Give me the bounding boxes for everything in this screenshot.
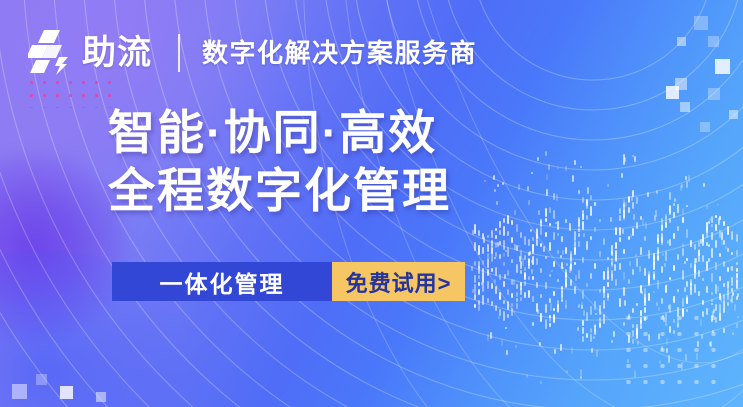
waveform-bar	[529, 251, 531, 254]
waveform-bar	[632, 155, 634, 157]
waveform-bar	[603, 286, 605, 293]
waveform-bar	[690, 263, 692, 269]
waveform-bar	[491, 240, 493, 247]
waveform-bar	[611, 274, 613, 281]
waveform-bar	[727, 289, 729, 295]
waveform-bar	[635, 254, 637, 258]
free-trial-button-label: 免费试用>	[346, 266, 452, 298]
waveform-bar	[723, 294, 725, 299]
waveform-bar	[532, 276, 534, 280]
waveform-bar	[582, 210, 584, 215]
waveform-bar	[723, 283, 725, 287]
waveform-bar	[599, 323, 601, 328]
waveform-bar	[615, 254, 617, 261]
waveform-bar	[580, 166, 582, 168]
waveform-bar	[487, 298, 489, 303]
waveform-bar	[666, 338, 668, 345]
waveform-bar	[736, 277, 738, 282]
waveform-bar	[595, 313, 597, 316]
waveform-bar	[653, 274, 655, 278]
waveform-bar	[736, 323, 738, 328]
waveform-bar	[669, 277, 671, 280]
waveform-bar	[698, 270, 700, 277]
waveform-bar	[545, 208, 547, 217]
waveform-bar	[590, 328, 592, 333]
brand-tagline: 数字化解决方案服务商	[202, 40, 477, 66]
waveform-bar	[711, 248, 713, 258]
waveform-bar	[677, 204, 679, 214]
waveform-bar	[603, 300, 605, 308]
waveform-bar	[619, 298, 621, 307]
waveform-bar	[506, 350, 508, 355]
waveform-bar	[570, 262, 572, 267]
waveform-bar	[478, 300, 480, 305]
waveform-bar	[658, 334, 660, 339]
waveform-bar	[623, 322, 625, 326]
waveform-bar	[507, 289, 509, 295]
waveform-bar	[622, 229, 624, 234]
waveform-bar	[478, 282, 480, 287]
waveform-bar	[531, 172, 533, 174]
waveform-bar	[657, 255, 659, 261]
waveform-bar	[655, 210, 657, 217]
waveform-bar	[599, 317, 601, 321]
waveform-bar	[546, 189, 548, 196]
waveform-bar	[611, 274, 613, 278]
waveform-bar	[619, 208, 621, 214]
waveform-bar	[680, 185, 682, 192]
waveform-bar	[487, 244, 489, 252]
waveform-bar	[666, 284, 668, 286]
waveform-bar	[582, 327, 584, 334]
waveform-bar	[630, 234, 632, 238]
waveform-bar	[511, 259, 513, 263]
waveform-bar	[532, 296, 534, 302]
waveform-bar	[686, 297, 688, 300]
waveform-bar	[632, 190, 634, 197]
waveform-bar	[686, 298, 688, 304]
waveform-bar	[619, 215, 621, 221]
waveform-bar	[653, 262, 655, 271]
waveform-bar	[491, 253, 493, 262]
waveform-bar	[503, 240, 505, 250]
waveform-bar	[665, 214, 667, 220]
waveform-bar	[607, 271, 609, 280]
decor-square	[715, 59, 730, 74]
waveform-bar	[645, 222, 647, 228]
waveform-bar	[528, 259, 530, 266]
waveform-bar	[503, 311, 505, 320]
waveform-bar	[690, 240, 692, 247]
waveform-bar	[540, 294, 542, 297]
waveform-bar	[653, 256, 655, 265]
waveform-bar	[734, 304, 736, 311]
waveform-bar	[720, 297, 722, 301]
waveform-bar	[665, 222, 667, 228]
waveform-bar	[654, 215, 656, 222]
free-trial-button[interactable]: 免费试用>	[332, 262, 465, 301]
waveform-bar	[732, 292, 734, 297]
waveform-bar	[495, 267, 497, 276]
waveform-bar	[596, 350, 598, 357]
waveform-bar	[565, 300, 567, 307]
waveform-bar	[694, 258, 696, 267]
waveform-bar	[532, 244, 534, 254]
waveform-bar	[536, 303, 538, 313]
waveform-bar	[702, 278, 704, 281]
waveform-bar	[487, 259, 489, 268]
waveform-bar	[633, 214, 635, 220]
waveform-bar	[482, 260, 484, 264]
waveform-bar	[677, 307, 679, 316]
waveform-bar	[723, 308, 725, 313]
waveform-bar	[565, 273, 567, 278]
waveform-bar	[669, 304, 671, 314]
waveform-bar	[582, 221, 584, 230]
waveform-bar	[669, 205, 671, 213]
waveform-bar	[516, 224, 518, 233]
waveform-bar	[474, 275, 476, 284]
waveform-bar	[574, 247, 576, 255]
waveform-bar	[491, 268, 493, 273]
waveform-bar	[644, 307, 646, 313]
waveform-bar	[690, 279, 692, 285]
waveform-bar	[536, 282, 538, 288]
waveform-bar	[511, 237, 513, 244]
waveform-bar	[586, 200, 588, 210]
waveform-bar	[478, 305, 480, 312]
waveform-bar	[536, 239, 538, 247]
waveform-bar	[565, 279, 567, 288]
waveform-bar	[495, 242, 497, 248]
waveform-bar	[495, 235, 497, 240]
waveform-bar	[636, 324, 638, 331]
headline-line-1: 智能·协同·高效	[108, 104, 451, 162]
waveform-bar	[482, 247, 484, 253]
waveform-bar	[632, 339, 634, 344]
waveform-bar	[487, 253, 489, 260]
waveform-bar	[603, 271, 605, 280]
waveform-bar	[587, 187, 589, 194]
waveform-bar	[727, 294, 729, 300]
waveform-bar	[577, 327, 579, 331]
waveform-bar	[494, 257, 496, 259]
waveform-bar	[507, 301, 509, 310]
waveform-bar	[557, 250, 559, 254]
waveform-bar	[623, 161, 625, 165]
waveform-bar	[706, 227, 708, 233]
waveform-bar	[706, 231, 708, 238]
waveform-bar	[528, 258, 530, 262]
waveform-bar	[581, 305, 583, 309]
waveform-bar	[557, 233, 559, 235]
waveform-bar	[621, 173, 623, 178]
light-dot-grid	[620, 310, 720, 395]
decor-square	[96, 392, 106, 402]
waveform-bar	[503, 226, 505, 235]
waveform-bar	[637, 341, 639, 345]
lightning-bolt-logo-icon	[28, 30, 72, 76]
waveform-bar	[499, 230, 501, 235]
waveform-bar	[524, 255, 526, 261]
waveform-bar	[718, 218, 720, 226]
waveform-bar	[719, 276, 721, 281]
waveform-bar	[653, 256, 655, 263]
waveform-bar	[474, 304, 476, 307]
waveform-bar	[694, 244, 696, 250]
waveform-bar	[545, 232, 547, 237]
waveform-bar	[623, 210, 625, 218]
waveform-bar	[682, 298, 684, 307]
waveform-bar	[715, 304, 717, 312]
waveform-bar	[503, 218, 505, 223]
waveform-bar	[669, 206, 671, 216]
waveform-bar	[491, 247, 493, 254]
waveform-bar	[530, 229, 532, 232]
waveform-bar	[499, 309, 501, 316]
waveform-bar	[640, 247, 642, 255]
waveform-bar	[528, 239, 530, 246]
waveform-bar	[715, 262, 717, 271]
waveform-bar	[513, 279, 515, 285]
waveform-bar	[546, 174, 548, 180]
waveform-bar	[574, 242, 576, 247]
waveform-bar	[551, 270, 553, 273]
waveform-bar	[580, 369, 582, 376]
waveform-bar	[569, 223, 571, 231]
waveform-bar	[566, 263, 568, 266]
waveform-bar	[581, 302, 583, 309]
waveform-bar	[586, 333, 588, 338]
decor-square	[700, 122, 710, 132]
waveform-bar	[499, 254, 501, 259]
waveform-bar	[702, 241, 704, 246]
waveform-bar	[615, 252, 617, 262]
waveform-bar	[640, 317, 642, 325]
waveform-bar	[487, 334, 489, 342]
waveform-bar	[499, 292, 501, 300]
waveform-bar	[474, 242, 476, 252]
headline-line-2: 全程数字化管理	[108, 162, 451, 220]
waveform-bar	[487, 235, 489, 238]
waveform-bar	[725, 246, 727, 249]
waveform-bar	[611, 340, 613, 344]
waveform-bar	[648, 274, 650, 283]
waveform-bar	[690, 286, 692, 291]
waveform-bar	[497, 242, 499, 247]
waveform-bar	[540, 221, 542, 227]
waveform-bar	[487, 281, 489, 290]
waveform-bar	[701, 334, 703, 339]
waveform-bar	[694, 267, 696, 273]
waveform-bar	[566, 370, 568, 373]
waveform-bar	[482, 295, 484, 305]
waveform-bar	[582, 320, 584, 326]
waveform-bar	[732, 332, 734, 335]
waveform-bar	[723, 221, 725, 226]
waveform-bar	[574, 231, 576, 240]
waveform-bar	[737, 316, 739, 318]
waveform-bar	[586, 312, 588, 321]
waveform-bar	[727, 248, 729, 252]
waveform-bar	[565, 247, 567, 255]
waveform-bar	[528, 259, 530, 265]
waveform-bar	[619, 263, 621, 270]
waveform-bar	[536, 234, 538, 240]
waveform-bar	[499, 296, 501, 299]
waveform-bar	[557, 279, 559, 282]
waveform-bar	[553, 210, 555, 219]
waveform-bar	[653, 271, 655, 280]
waveform-bar	[549, 207, 551, 213]
waveform-bar	[507, 314, 509, 318]
waveform-bar	[644, 268, 646, 275]
waveform-bar	[644, 294, 646, 303]
waveform-bar	[494, 279, 496, 283]
waveform-bar	[539, 342, 541, 346]
waveform-bar	[562, 250, 564, 256]
waveform-bar	[665, 220, 667, 225]
waveform-bar	[682, 248, 684, 256]
waveform-bar	[712, 330, 714, 333]
waveform-bar	[481, 282, 483, 284]
waveform-bar	[540, 243, 542, 247]
waveform-bar	[478, 245, 480, 255]
waveform-bar	[607, 267, 609, 273]
waveform-bar	[642, 219, 644, 227]
waveform-bar	[711, 216, 713, 223]
waveform-bar	[628, 236, 630, 240]
waveform-bar	[560, 344, 562, 351]
waveform-bar	[574, 239, 576, 247]
waveform-bar	[648, 277, 650, 285]
waveform-bar	[615, 227, 617, 231]
waveform-decoration	[470, 150, 743, 390]
waveform-bar	[610, 217, 612, 222]
waveform-bar	[682, 308, 684, 317]
waveform-bar	[553, 308, 555, 310]
waveform-bar	[647, 192, 649, 197]
waveform-bar	[565, 305, 567, 309]
waveform-bar	[611, 258, 613, 265]
waveform-bar	[471, 266, 473, 271]
waveform-bar	[511, 293, 513, 298]
waveform-bar	[499, 274, 501, 280]
waveform-bar	[711, 315, 713, 322]
waveform-bar	[549, 242, 551, 251]
waveform-bar	[507, 215, 509, 224]
waveform-bar	[599, 251, 601, 257]
waveform-bar	[727, 267, 729, 272]
waveform-bar	[673, 319, 675, 323]
waveform-bar	[496, 201, 498, 204]
waveform-bar	[516, 264, 518, 273]
waveform-bar	[706, 222, 708, 231]
waveform-bar	[528, 276, 530, 280]
waveform-bar	[528, 264, 530, 269]
waveform-bar	[681, 184, 683, 188]
waveform-bar	[570, 279, 572, 286]
waveform-bar	[717, 204, 719, 207]
waveform-bar	[590, 334, 592, 342]
decor-square	[729, 110, 738, 119]
waveform-bar	[594, 227, 596, 231]
waveform-bar	[648, 279, 650, 286]
waveform-bar	[495, 228, 497, 232]
waveform-bar	[543, 246, 545, 252]
waveform-bar	[731, 252, 733, 255]
waveform-bar	[516, 245, 518, 251]
waveform-bar	[661, 298, 663, 304]
waveform-bar	[484, 180, 486, 183]
waveform-bar	[507, 247, 509, 257]
waveform-bar	[570, 264, 572, 270]
waveform-bar	[665, 251, 667, 261]
waveform-bar	[553, 261, 555, 268]
waveform-bar	[686, 281, 688, 286]
waveform-bar	[514, 244, 516, 250]
waveform-bar	[594, 328, 596, 335]
waveform-bar	[507, 231, 509, 236]
waveform-bar	[623, 272, 625, 280]
waveform-bar	[603, 314, 605, 324]
waveform-bar	[504, 274, 506, 279]
waveform-bar	[553, 291, 555, 296]
waveform-bar	[538, 210, 540, 215]
waveform-bar	[669, 239, 671, 246]
waveform-bar	[582, 197, 584, 203]
waveform-bar	[727, 281, 729, 290]
waveform-bar	[586, 283, 588, 286]
waveform-bar	[586, 215, 588, 220]
waveform-bar	[640, 216, 642, 221]
waveform-bar	[706, 205, 708, 209]
waveform-bar	[665, 285, 667, 294]
waveform-bar	[561, 294, 563, 298]
waveform-bar	[586, 241, 588, 251]
waveform-bar	[663, 318, 665, 322]
waveform-bar	[524, 236, 526, 246]
waveform-bar	[698, 291, 700, 296]
waveform-bar	[520, 288, 522, 295]
waveform-bar	[532, 322, 534, 326]
waveform-bar	[737, 293, 739, 297]
waveform-bar	[565, 272, 567, 282]
waveform-bar	[636, 328, 638, 335]
waveform-bar	[690, 281, 692, 288]
waveform-bar	[537, 157, 539, 162]
waveform-bar	[731, 295, 733, 303]
waveform-bar	[709, 218, 711, 221]
waveform-bar	[731, 231, 733, 240]
waveform-bar	[553, 315, 555, 323]
decor-square	[675, 78, 687, 90]
waveform-bar	[713, 309, 715, 313]
waveform-bar	[731, 281, 733, 286]
waveform-bar	[640, 320, 642, 323]
waveform-bar	[628, 196, 630, 203]
waveform-bar	[715, 317, 717, 323]
brand-name: 助流	[82, 36, 152, 70]
waveform-bar	[582, 257, 584, 263]
waveform-bar	[540, 227, 542, 234]
waveform-bar	[719, 304, 721, 314]
waveform-bar	[607, 282, 609, 286]
waveform-bar	[634, 370, 636, 374]
waveform-bar	[657, 280, 659, 289]
waveform-bar	[644, 288, 646, 298]
waveform-bar	[583, 233, 585, 237]
